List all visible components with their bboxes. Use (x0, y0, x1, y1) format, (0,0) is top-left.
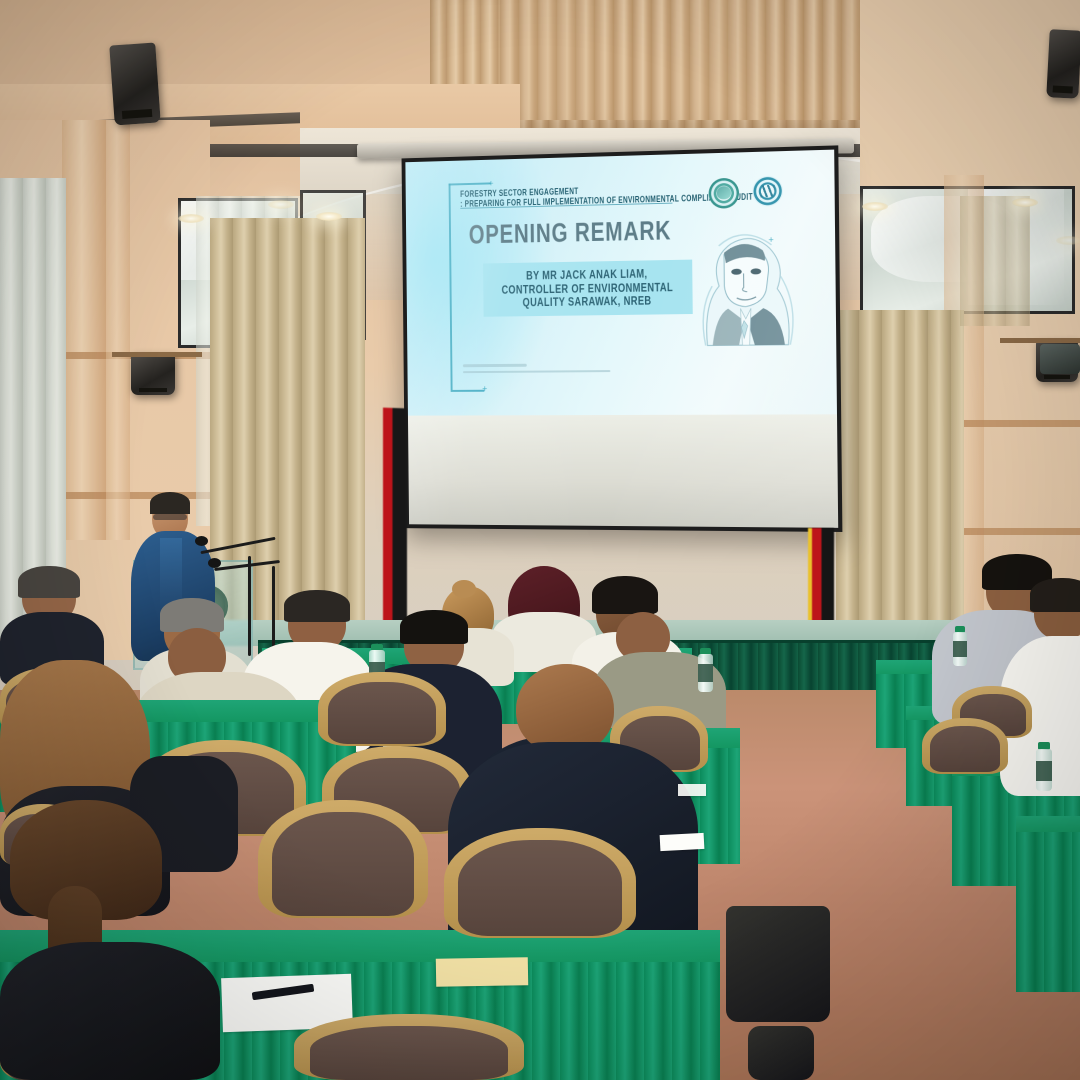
microphone-head-2 (208, 558, 221, 568)
conference-hall-photo: + + + + FORESTRY SECTOR ENGAGEMENT : PRE… (0, 0, 1080, 1080)
speaker-portrait-illustration (689, 206, 796, 370)
nreb-logo (708, 177, 739, 208)
wall-speaker-left-lower (131, 353, 175, 395)
projection-screen: + + + + FORESTRY SECTOR ENGAGEMENT : PRE… (402, 145, 843, 532)
projector-mount-arm (1000, 338, 1080, 343)
note-paper-far (678, 784, 706, 796)
crosshair-tick-top: + (488, 179, 493, 188)
curtain-right (836, 310, 964, 640)
slide-canvas: + + + + FORESTRY SECTOR ENGAGEMENT : PRE… (405, 150, 837, 416)
microphone-head-1 (195, 536, 208, 546)
downlight-2 (316, 212, 342, 221)
presenter-shirt-placket (160, 538, 182, 608)
slide-footer (463, 363, 658, 377)
microphone-stem-1 (248, 556, 251, 656)
crosshair-tick-bottom: + (482, 385, 487, 394)
downlight-5 (268, 200, 294, 209)
speaker-line-3: QUALITY SARAWAK, NREB (483, 292, 692, 309)
downlight-1 (178, 214, 204, 223)
table-right-4-drape (1016, 832, 1080, 992)
wall-speaker-left-upper (109, 42, 160, 125)
pilaster-band-2 (62, 492, 212, 499)
speaker-mount-arm-left (112, 352, 202, 357)
name-card (436, 957, 528, 987)
pilaster-left (62, 120, 106, 540)
pilaster-left-inner (106, 120, 130, 540)
banner-left (383, 408, 407, 641)
ceiling-projector (1040, 344, 1080, 374)
presenter-hair (150, 492, 190, 514)
downlight-4 (1012, 198, 1038, 207)
backpack (726, 906, 830, 1022)
note-paper-mid (660, 833, 705, 851)
slide-footer-line-2 (463, 370, 610, 373)
curtain-right-upper (960, 196, 1030, 326)
slide-footer-line-1 (463, 364, 526, 367)
wall-speaker-right-upper (1046, 29, 1080, 99)
presenter-eyeglasses (153, 514, 187, 520)
slide-bracket-bottom (451, 389, 484, 391)
downlight-6 (1056, 236, 1080, 245)
slide-speaker-block: BY MR JACK ANAK LIAM, CONTROLLER OF ENVI… (483, 259, 692, 317)
shoe (748, 1026, 814, 1080)
downlight-3 (862, 202, 888, 211)
slide-lower-blank (408, 414, 838, 528)
agency-logo (752, 175, 783, 206)
